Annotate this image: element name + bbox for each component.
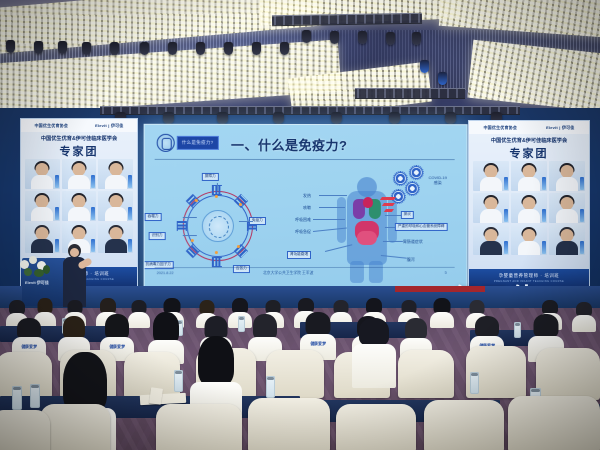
who-emblem-icon bbox=[157, 134, 175, 152]
slide-title: 一、什么是免疫力? bbox=[231, 135, 348, 154]
projection-screen: 什么是免疫力? 一、什么是免疫力? bbox=[144, 124, 468, 293]
expert-photo bbox=[98, 191, 133, 221]
water-bottle bbox=[174, 370, 183, 392]
ring-label: 屏障力 bbox=[202, 173, 219, 181]
symptom-label: 肾功能衰竭 bbox=[287, 251, 311, 259]
paper-sheet bbox=[149, 387, 163, 405]
figure-arm bbox=[337, 197, 346, 243]
expert-photo bbox=[62, 159, 97, 189]
chair bbox=[508, 396, 600, 450]
water-bottle bbox=[30, 384, 40, 408]
expert-photo bbox=[511, 225, 547, 255]
expert-photo bbox=[98, 159, 133, 189]
water-bottle bbox=[514, 322, 521, 338]
virus-icon bbox=[395, 173, 406, 184]
figure-leg bbox=[350, 261, 364, 283]
association-logo: 中国优生优育协会 bbox=[34, 123, 68, 129]
brand-logo: Elevit | 伊可佳 bbox=[95, 123, 123, 129]
banner-subheading: 专家团 bbox=[21, 143, 137, 159]
banner-logo-row: 中国优生优育协会 Elevit | 伊可佳 bbox=[469, 121, 589, 134]
brand-logo: Elevit | 伊可佳 bbox=[546, 125, 574, 131]
chair bbox=[40, 404, 110, 450]
slide-header-rule bbox=[155, 159, 455, 160]
expert-photo bbox=[473, 193, 509, 223]
ring-label: 吞噬力 bbox=[145, 213, 162, 221]
symptom-label: 严重的呼吸和心血管系统障碍 bbox=[395, 223, 448, 231]
water-bottle bbox=[470, 372, 479, 394]
heart-organ bbox=[363, 197, 373, 208]
slide-section-badge: 什么是免疫力? bbox=[177, 136, 219, 150]
covid-label: COVID-19 感染 bbox=[423, 175, 453, 186]
expert-photo bbox=[549, 193, 585, 223]
intestine-organ bbox=[357, 231, 377, 245]
chair bbox=[0, 410, 50, 450]
slide-affiliation: 北京大学公共卫生学院 王军波 bbox=[263, 271, 313, 276]
expert-photo bbox=[25, 191, 60, 221]
chair bbox=[248, 398, 330, 450]
chair bbox=[0, 352, 52, 398]
expert-photo bbox=[25, 159, 60, 189]
lighting-truss bbox=[355, 88, 465, 99]
speaker-face bbox=[70, 248, 79, 257]
symptom-label: 发热 bbox=[303, 193, 311, 198]
figure-leg bbox=[369, 261, 383, 283]
attendee-foreground bbox=[352, 318, 396, 384]
banner-logo-row: 中国优生优育协会 Elevit | 伊可佳 bbox=[21, 119, 137, 132]
flower-arrangement bbox=[18, 252, 52, 278]
chair bbox=[156, 404, 242, 450]
expert-photo-grid bbox=[25, 159, 133, 253]
expert-photo bbox=[473, 225, 509, 255]
shirt-print: 健康 爱 梦 bbox=[109, 344, 124, 350]
chair bbox=[336, 404, 416, 450]
conference-hall-photo: 什么是免疫力? 一、什么是免疫力? bbox=[0, 0, 600, 450]
stage-red-accent bbox=[395, 286, 485, 292]
expert-photo bbox=[511, 193, 547, 223]
association-logo: 中国优生优育协会 bbox=[483, 125, 517, 131]
attendee-foreground bbox=[190, 336, 242, 414]
virus-icon bbox=[411, 167, 422, 178]
slide-date: 2021.8.22 bbox=[157, 271, 174, 275]
ceiling bbox=[0, 0, 600, 118]
shirt-print: 健康 爱 梦 bbox=[310, 341, 325, 347]
covid-body-diagram: COVID-19 感染 发热 咳嗽 呼吸困难 呼吸急促 肾功能衰竭 肺炎 严重的… bbox=[285, 167, 455, 283]
chair bbox=[424, 400, 504, 450]
expert-photo bbox=[25, 223, 60, 253]
slide-canvas: 什么是免疫力? 一、什么是免疫力? bbox=[145, 125, 467, 292]
banner-heading: 中国优生优育&伊可佳临床医学会 bbox=[21, 135, 137, 142]
spotlight-row bbox=[300, 30, 430, 44]
symptom-label: 肺炎 bbox=[401, 211, 414, 219]
immunity-ring-diagram: 屏障力 吞噬力 识别力 抗病毒力因子力 免疫力 应答力 bbox=[169, 177, 265, 273]
water-bottle bbox=[266, 376, 275, 398]
water-bottle bbox=[238, 316, 245, 332]
chair bbox=[536, 348, 600, 400]
stage-light-row bbox=[105, 112, 515, 124]
spotlight-row bbox=[0, 40, 330, 52]
expert-photo bbox=[511, 161, 547, 191]
symptom-label: 呼吸困难 bbox=[295, 217, 311, 222]
slide-page-number: 5 bbox=[445, 271, 447, 275]
ring-label: 识别力 bbox=[149, 232, 166, 240]
expert-photo bbox=[98, 223, 133, 253]
water-bottle bbox=[12, 386, 22, 410]
banner-heading: 中国优生优育&伊可佳临床医学会 bbox=[469, 137, 589, 144]
chair bbox=[398, 350, 454, 398]
expert-photo bbox=[549, 225, 585, 255]
symptom-label: 呼吸急促 bbox=[295, 229, 311, 234]
shirt-print: 健康 爱 梦 bbox=[21, 344, 36, 350]
speaker-person bbox=[62, 244, 88, 306]
banner-subheading: 专家团 bbox=[469, 145, 589, 161]
symptom-label: 胃肠道症状 bbox=[403, 239, 423, 244]
podium-logo: Elevit 伊可佳 bbox=[25, 280, 49, 286]
symptom-label: 腹泻 bbox=[407, 257, 415, 262]
expert-photo-grid bbox=[473, 161, 585, 255]
immune-cell-core bbox=[202, 210, 234, 242]
virus-icon bbox=[407, 183, 418, 194]
banner-right: 中国优生优育协会 Elevit | 伊可佳 中国优生优育&伊可佳临床医学会 专家… bbox=[468, 120, 590, 292]
symptom-label: 咳嗽 bbox=[303, 205, 311, 210]
expert-photo bbox=[473, 161, 509, 191]
expert-photo bbox=[62, 191, 97, 221]
expert-photo bbox=[549, 161, 585, 191]
